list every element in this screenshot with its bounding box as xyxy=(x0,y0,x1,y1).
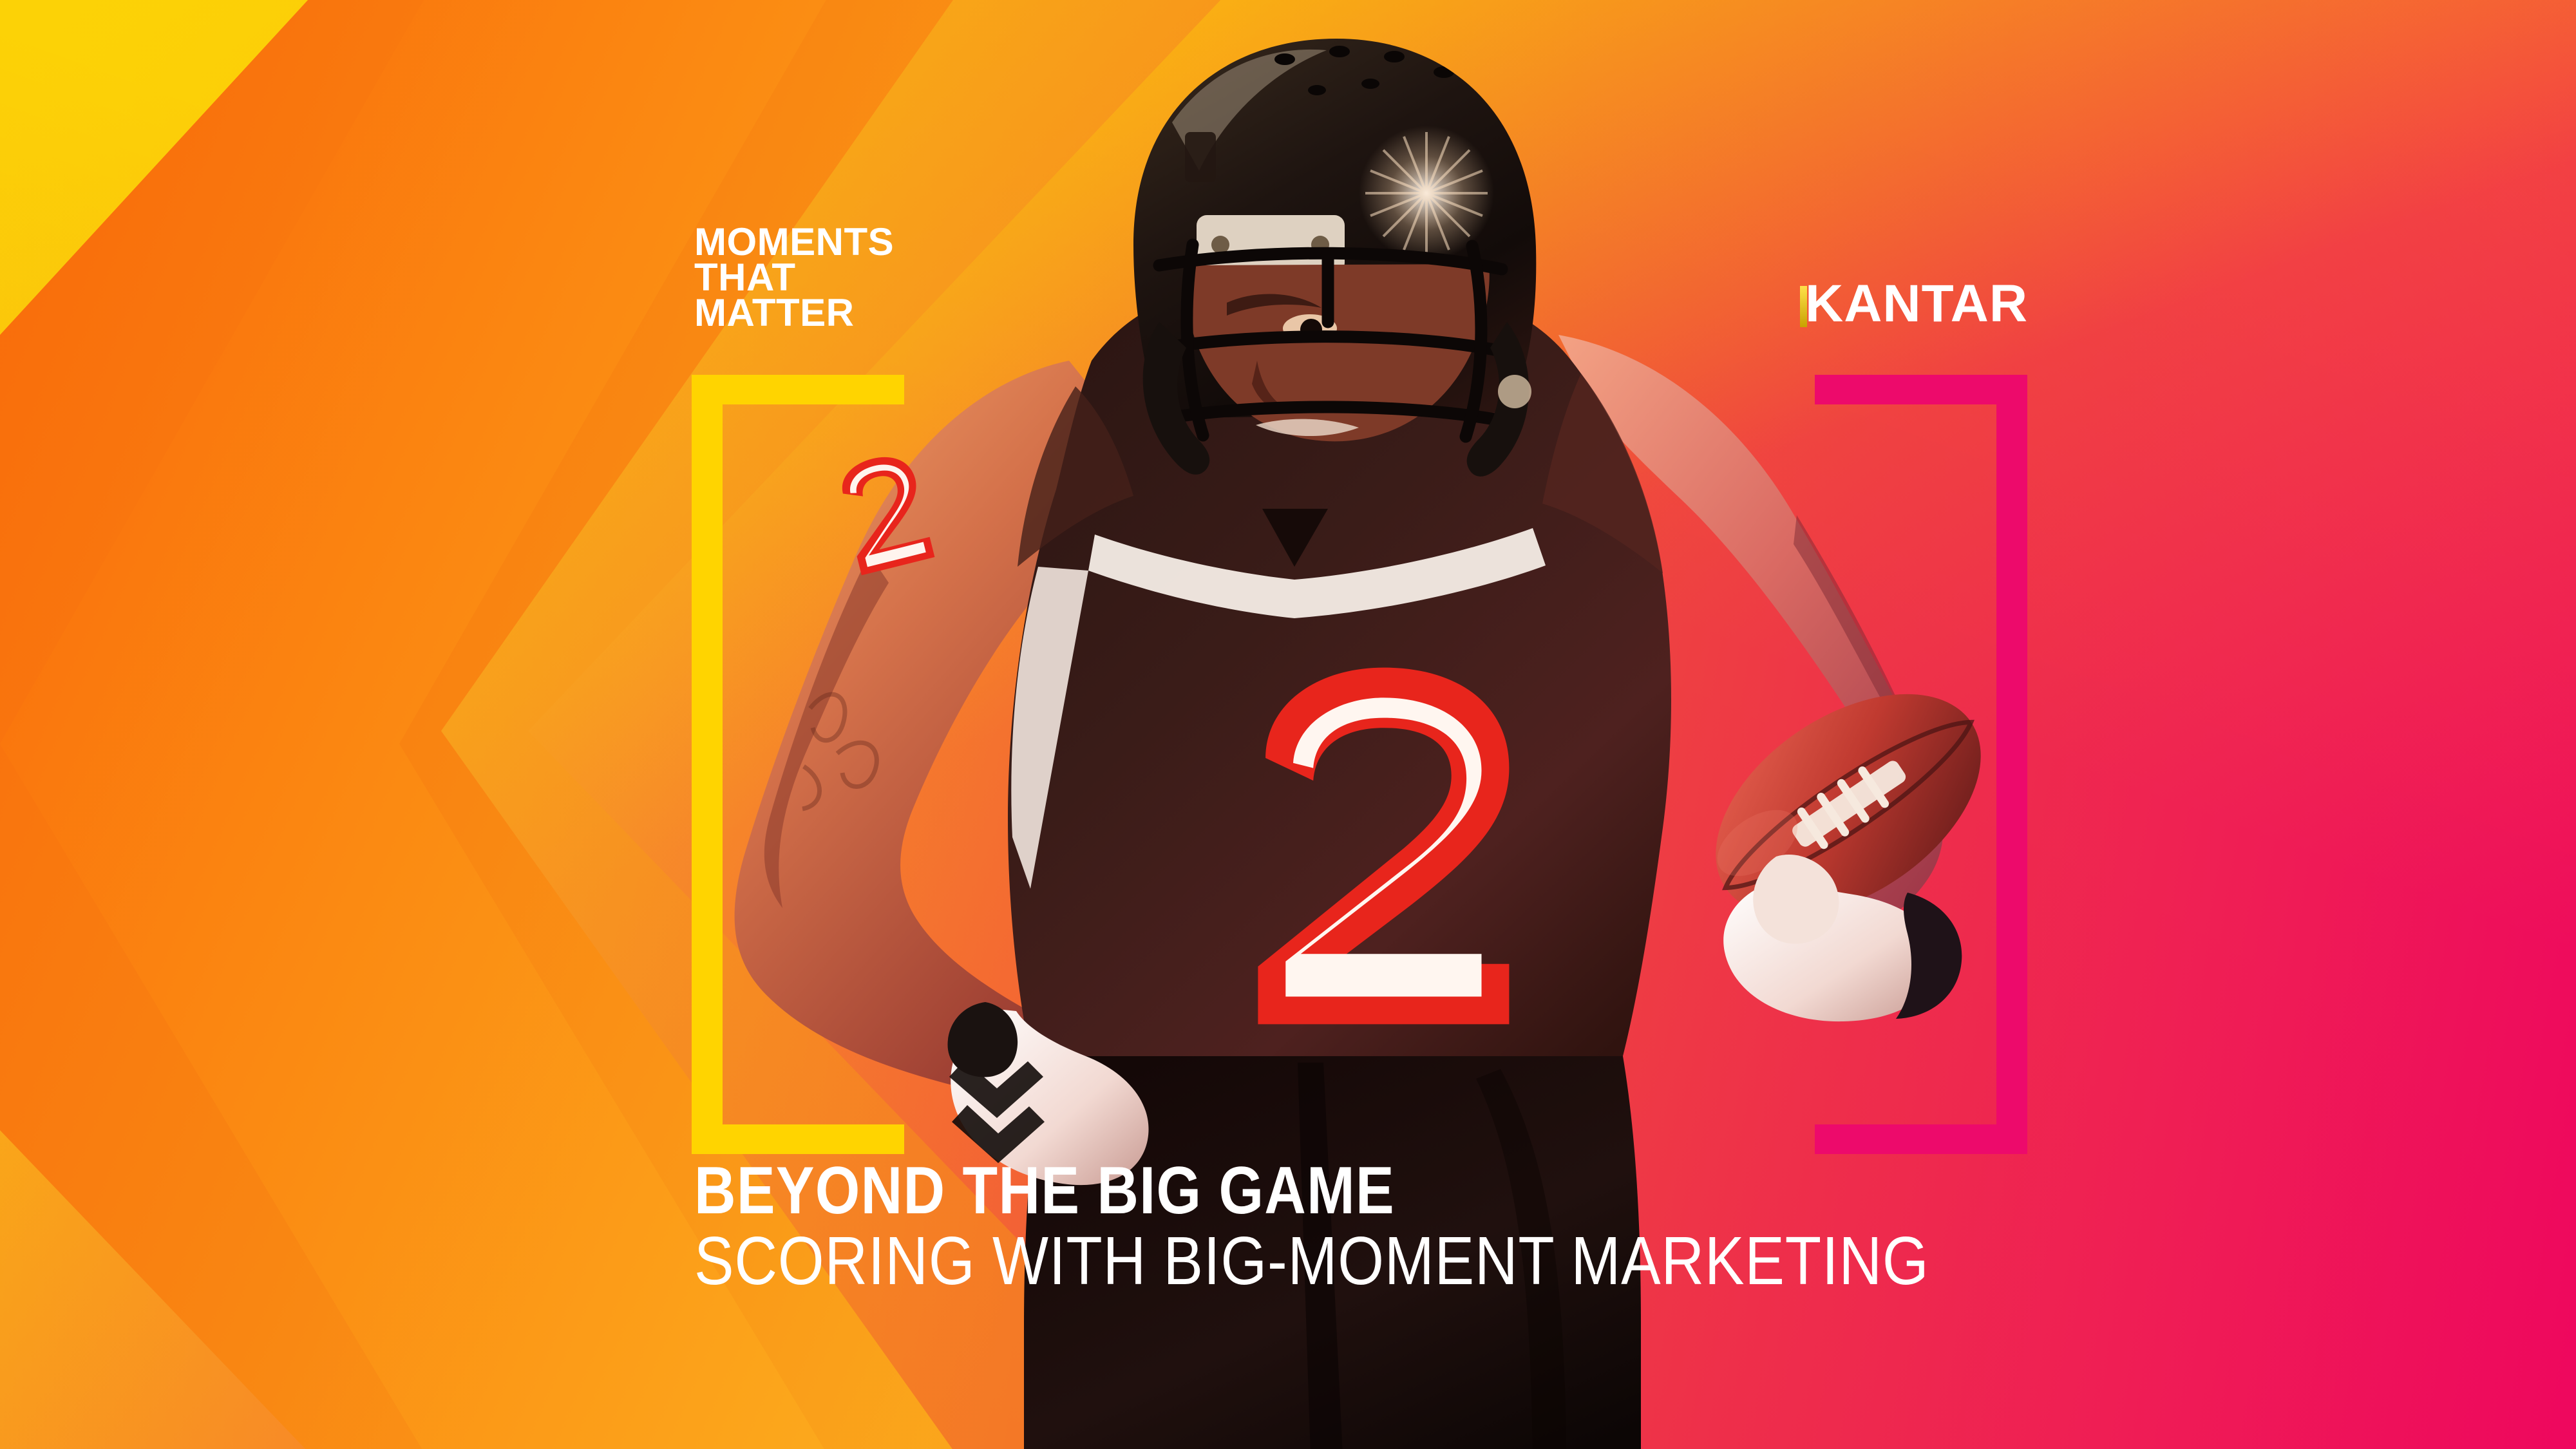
bracket-left xyxy=(692,375,904,1154)
bracket-right-top-arm xyxy=(1815,375,2027,404)
page-title: BEYOND THE BIG GAME xyxy=(694,1157,1395,1224)
bracket-left-top-arm xyxy=(692,375,904,404)
bracket-right-bottom-arm xyxy=(1815,1124,2027,1154)
poster-canvas: MOMENTS THAT MATTER KANTAR BEYOND THE BI… xyxy=(0,0,2576,1449)
bracket-left-bottom-arm xyxy=(692,1124,904,1154)
page-subtitle: SCORING WITH BIG-MOMENT MARKETING xyxy=(694,1227,1929,1295)
bracket-left-vertical-bar xyxy=(692,375,723,1154)
kantar-logo[interactable]: KANTAR xyxy=(1800,274,2028,334)
moments-that-matter-lockup: MOMENTS THAT MATTER xyxy=(694,224,894,331)
mtm-line-2: THAT xyxy=(694,260,894,295)
mtm-line-1: MOMENTS xyxy=(694,224,894,260)
bracket-right xyxy=(1815,375,2027,1154)
mtm-line-3: MATTER xyxy=(694,295,894,330)
kantar-wordmark: KANTAR xyxy=(1805,274,2028,333)
bracket-right-vertical-bar xyxy=(1996,375,2027,1154)
